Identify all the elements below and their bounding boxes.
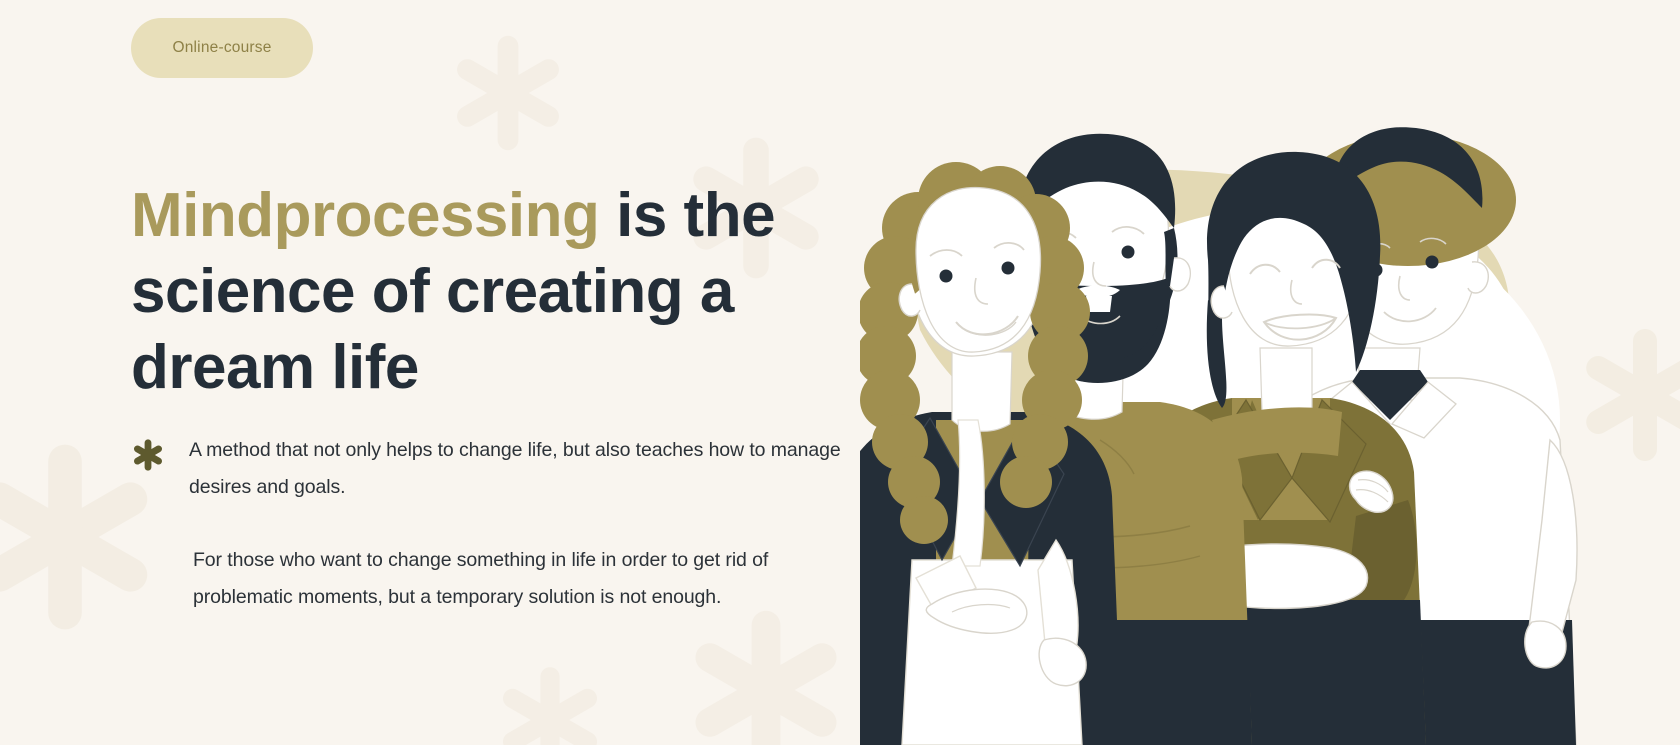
bullet-row: A method that not only helps to change l… (131, 432, 851, 506)
asterisk-icon (131, 438, 165, 472)
body-copy: A method that not only helps to change l… (131, 432, 851, 616)
four-people-group-illustration (860, 0, 1680, 745)
online-course-badge[interactable]: Online-course (131, 18, 313, 78)
page-title: Mindprocessing is the science of creatin… (131, 178, 831, 406)
headline-accent-word: Mindprocessing (131, 181, 599, 250)
watermark-asterisk-icon (490, 660, 610, 745)
watermark-asterisk-icon (443, 28, 573, 158)
paragraph-2: For those who want to change something i… (193, 542, 853, 616)
watermark-asterisk-icon (676, 600, 856, 745)
paragraph-1: A method that not only helps to change l… (189, 432, 851, 506)
hero-section: Online-course Mindprocessing is the scie… (0, 0, 1680, 745)
badge-label: Online-course (172, 39, 271, 57)
